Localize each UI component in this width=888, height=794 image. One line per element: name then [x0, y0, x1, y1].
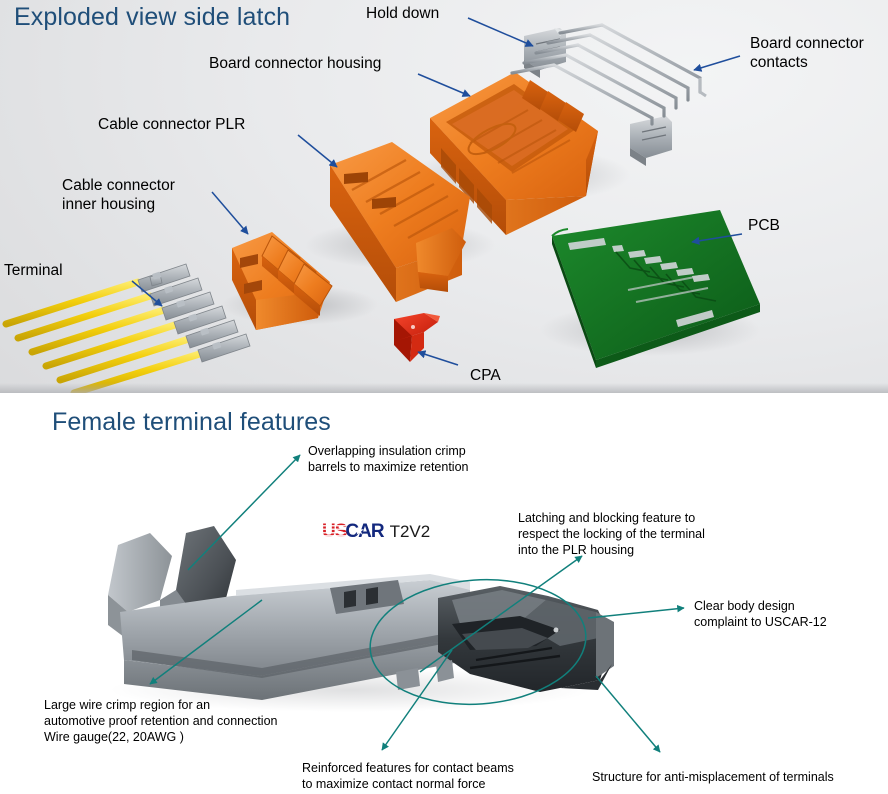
label-anti-misplacement: Structure for anti-misplacement of termi… [592, 770, 834, 786]
label-latching-blocking: Latching and blocking feature to respect… [518, 511, 705, 558]
uscar-wordmark: US CAR ★ [322, 522, 384, 542]
arrow-cable-connector-inner-housing [212, 192, 248, 234]
arrow-hold-down [468, 18, 533, 46]
cpa-part [394, 313, 440, 362]
uscar-version: T2V2 [390, 522, 431, 542]
label-cpa: CPA [470, 367, 501, 386]
arrow-cable-connector-plr [298, 135, 337, 167]
arrow-pcb [692, 234, 742, 242]
uscar-us-text: US [322, 522, 346, 542]
label-overlapping-crimp: Overlapping insulation crimp barrels to … [308, 444, 468, 476]
label-cable-connector-inner-housing: Cable connector inner housing [62, 177, 175, 215]
star-icon: ★ [354, 527, 363, 536]
cable-connector-inner-housing-part [232, 232, 332, 330]
label-cable-connector-plr: Cable connector PLR [98, 116, 245, 135]
board-connector-contacts-part [512, 25, 700, 124]
board-connector-contacts-bar [700, 78, 706, 96]
board-connector-housing-part [430, 72, 598, 235]
label-hold-down: Hold down [366, 5, 439, 24]
pcb-part [552, 210, 760, 368]
label-reinforced-beams: Reinforced features for contact beams to… [302, 761, 514, 793]
hold-down-part-2 [630, 116, 672, 166]
uscar-car-letters: CAR [345, 521, 383, 542]
arrow-board-connector-housing [418, 74, 470, 96]
terminal-wires-group [6, 264, 250, 393]
hold-down-part [524, 28, 566, 78]
label-terminal: Terminal [4, 262, 63, 281]
uscar-logo: US CAR ★ T2V2 [322, 521, 430, 543]
uscar-car-text: CAR ★ [345, 522, 383, 542]
arrow-cpa [418, 352, 458, 365]
page-title-exploded-view: Exploded view side latch [14, 3, 290, 32]
arrow-terminal [132, 281, 162, 306]
label-board-connector-housing: Board connector housing [209, 55, 381, 74]
cable-connector-plr-part [330, 142, 470, 302]
arrow-board-connector-contacts [694, 56, 740, 70]
label-board-connector-contacts: Board connector contacts [750, 35, 864, 73]
label-pcb: PCB [748, 217, 780, 236]
exploded-view-panel: Exploded view side latch Hold down Board… [0, 0, 888, 393]
page-title-female-terminal: Female terminal features [52, 408, 331, 437]
label-clear-body: Clear body design complaint to USCAR-12 [694, 599, 827, 631]
label-large-wire-crimp: Large wire crimp region for an automotiv… [44, 698, 278, 745]
